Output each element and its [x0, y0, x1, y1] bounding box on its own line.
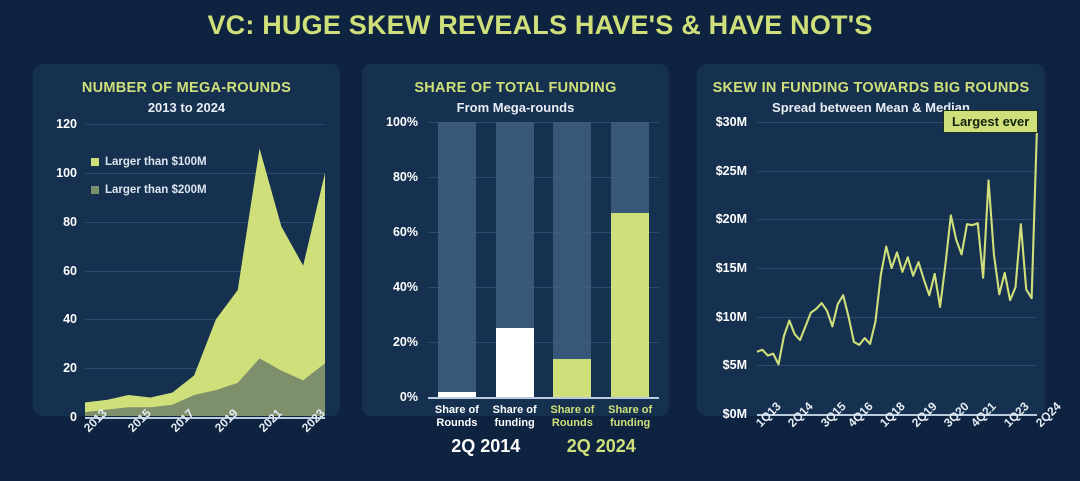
largest-ever-callout: Largest ever	[943, 110, 1038, 133]
page-title: VC: HUGE SKEW REVEALS HAVE'S & HAVE NOT'…	[0, 10, 1080, 41]
bar[interactable]	[553, 359, 591, 398]
bar-group-label: 2Q 2024	[531, 436, 671, 457]
bar[interactable]	[496, 328, 534, 397]
y-axis-tick-label: 40%	[362, 280, 418, 294]
y-axis-tick-label: 0%	[362, 390, 418, 404]
bar-category-label: Share offunding	[594, 404, 666, 430]
panel2-title: SHARE OF TOTAL FUNDING	[362, 80, 669, 96]
legend-label: Larger than $100M	[105, 156, 207, 168]
bar-background-track	[553, 122, 591, 397]
legend-item[interactable]: Larger than $200M	[91, 184, 207, 196]
bar-background-track	[438, 122, 476, 397]
y-axis-tick-label: 60%	[362, 225, 418, 239]
bar[interactable]	[438, 392, 476, 398]
bar-label-line: Share of	[594, 404, 666, 417]
panel2-subtitle: From Mega-rounds	[362, 100, 669, 115]
legend-item[interactable]: Larger than $100M	[91, 156, 207, 168]
legend-swatch-icon	[91, 186, 99, 194]
y-axis-tick-label: 100%	[362, 115, 418, 129]
panel-number-of-mega-rounds: NUMBER OF MEGA-ROUNDS 2013 to 2024 02040…	[33, 64, 340, 416]
panel1-area-chart	[33, 64, 340, 416]
bar-label-line: funding	[594, 417, 666, 430]
legend-label: Larger than $200M	[105, 184, 207, 196]
x-axis-line	[85, 417, 325, 419]
infographic-canvas: VC: HUGE SKEW REVEALS HAVE'S & HAVE NOT'…	[0, 0, 1080, 481]
panel-skew-in-funding: SKEW IN FUNDING TOWARDS BIG ROUNDS Sprea…	[697, 64, 1045, 416]
x-axis-line	[428, 397, 659, 399]
bar[interactable]	[611, 213, 649, 397]
panel-share-of-total-funding: SHARE OF TOTAL FUNDING From Mega-rounds …	[362, 64, 669, 416]
y-axis-tick-label: 80%	[362, 170, 418, 184]
legend-swatch-icon	[91, 158, 99, 166]
line-series	[757, 127, 1037, 364]
y-axis-tick-label: 20%	[362, 335, 418, 349]
